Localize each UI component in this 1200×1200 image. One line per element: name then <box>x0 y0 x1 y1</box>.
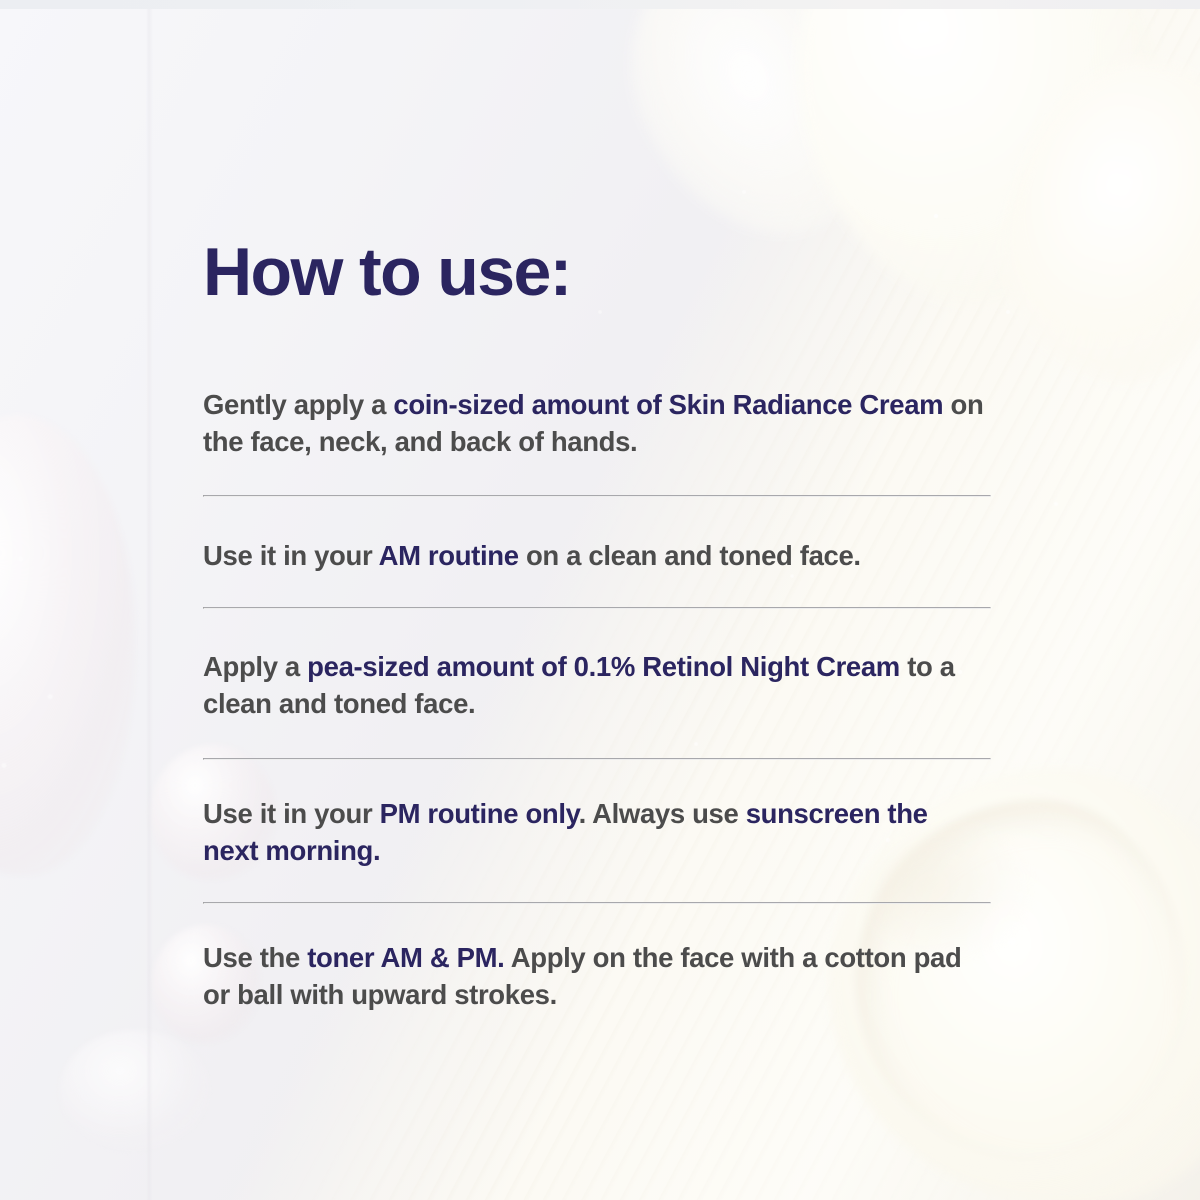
step-text: on a clean and toned face. <box>519 540 861 571</box>
step-text: Gently apply a <box>203 389 393 420</box>
step-highlight: coin-sized amount of Skin Radiance Cream <box>393 389 943 420</box>
step-divider-1 <box>203 495 991 497</box>
step-item-1: Gently apply a coin-sized amount of Skin… <box>203 386 989 460</box>
card-content: How to use: Gently apply a coin-sized am… <box>0 0 1200 1200</box>
step-text: . Always use <box>579 798 746 829</box>
instruction-card: How to use: Gently apply a coin-sized am… <box>0 0 1200 1200</box>
step-text: Apply a <box>203 651 307 682</box>
step-highlight: toner AM & PM. <box>307 942 504 973</box>
step-item-4: Use it in your PM routine only. Always u… <box>203 795 989 869</box>
page-title: How to use: <box>203 238 571 306</box>
step-item-2: Use it in your AM routine on a clean and… <box>203 537 989 574</box>
step-highlight: AM routine <box>379 540 519 571</box>
step-divider-3 <box>203 758 991 760</box>
step-text: Use it in your <box>203 540 379 571</box>
steps-list: Gently apply a coin-sized amount of Skin… <box>203 386 989 1041</box>
step-divider-4 <box>203 902 991 904</box>
step-item-5: Use the toner AM & PM. Apply on the face… <box>203 939 989 1013</box>
step-divider-2 <box>203 607 991 609</box>
step-highlight: pea-sized amount of 0.1% Retinol Night C… <box>307 651 900 682</box>
step-text: Use the <box>203 942 307 973</box>
step-highlight: PM routine only <box>380 798 579 829</box>
step-item-3: Apply a pea-sized amount of 0.1% Retinol… <box>203 648 989 722</box>
step-text: Use it in your <box>203 798 380 829</box>
